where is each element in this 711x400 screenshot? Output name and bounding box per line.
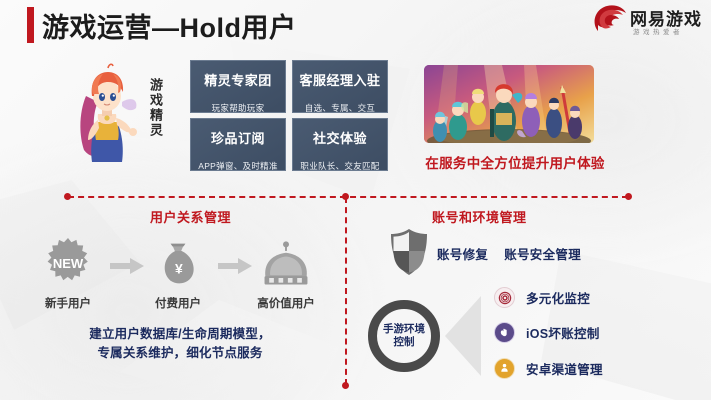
divider-dot-bottom [342, 382, 349, 389]
note-line-1: 建立用户数据库/生命周期模型， [40, 325, 320, 344]
flow-step-high-value-user: 高价值用户 [240, 236, 332, 311]
feature-box-title: 珍品订阅 [191, 128, 285, 147]
netease-games-logo: 网易游戏 游戏热爱者 [593, 2, 705, 42]
env-item-monitoring[interactable]: 多元化监控 [494, 287, 590, 308]
divider-dot-top [342, 193, 349, 200]
hand-gesture-icon [494, 322, 515, 343]
ring-label: 手游环境 控制 [383, 323, 425, 349]
new-badge-icon: NEW [22, 236, 114, 292]
divider-dot-left [64, 193, 71, 200]
game-characters-artwork [424, 65, 594, 143]
slide-header: 游戏运营—Hold用户 网易游戏 游戏热爱者 [0, 0, 711, 48]
money-bag-icon: ¥ [132, 236, 224, 292]
feature-box-subtitle: 职业队长、交友匹配 [293, 160, 387, 172]
left-panel-note: 建立用户数据库/生命周期模型， 专属关系维护，细化节点服务 [40, 325, 320, 364]
ring-label-line-1: 手游环境 [383, 323, 425, 336]
shield-label-security: 账号安全管理 [504, 248, 581, 262]
flow-step-paying-user: ¥ 付费用户 [132, 236, 224, 311]
feature-box-subtitle: 自选、专属、交互 [293, 102, 387, 114]
ring-label-line-2: 控制 [383, 336, 425, 349]
env-item-android-channel[interactable]: 安卓渠道管理 [494, 358, 603, 379]
env-item-label: iOS坏账控制 [526, 323, 600, 342]
mascot-label: 游戏精灵 [146, 78, 165, 138]
flow-step-label: 高价值用户 [240, 295, 332, 311]
feature-box-cs-manager[interactable]: 客服经理入驻 自选、专属、交互 [292, 60, 388, 113]
new-badge-text: NEW [53, 256, 84, 271]
page-title: 游戏运营—Hold用户 [42, 6, 297, 45]
flow-step-label: 新手用户 [22, 295, 114, 311]
logo-tagline: 游戏热爱者 [633, 26, 683, 36]
env-item-ios-bad-debt[interactable]: iOS坏账控制 [494, 322, 600, 343]
shield-icon [389, 228, 429, 276]
feature-box-social-experience[interactable]: 社交体验 职业队长、交友匹配 [292, 118, 388, 171]
note-line-2: 专属关系维护，细化节点服务 [40, 344, 320, 363]
feature-box-subtitle: APP弹窗、及时精准 [191, 160, 285, 172]
chevron-left-icon [443, 296, 483, 376]
crown-icon [240, 236, 332, 292]
target-monitor-icon [494, 287, 515, 308]
feature-box-premium-subscription[interactable]: 珍品订阅 APP弹窗、及时精准 [190, 118, 286, 171]
flow-arrow-icon [110, 258, 144, 274]
feature-box-expert-team[interactable]: 精灵专家团 玩家帮助玩家 [190, 60, 286, 113]
title-accent-bar [27, 7, 34, 43]
flow-arrow-icon [218, 258, 252, 274]
person-info-icon [494, 358, 515, 379]
hero-caption: 在服务中全方位提升用户体验 [415, 152, 615, 172]
slide-canvas: 游戏运营—Hold用户 网易游戏 游戏热爱者 [0, 0, 711, 400]
right-section-title: 账号和环境管理 [432, 207, 527, 226]
env-item-label: 多元化监控 [526, 288, 590, 307]
left-section-title: 用户关系管理 [150, 207, 231, 226]
feature-box-title: 精灵专家团 [191, 70, 285, 89]
flow-step-label: 付费用户 [132, 295, 224, 311]
mobile-game-environment-control-ring: 手游环境 控制 [368, 300, 440, 372]
feature-box-title: 客服经理入驻 [293, 70, 387, 89]
money-bag-symbol: ¥ [175, 260, 183, 276]
feature-box-title: 社交体验 [293, 128, 387, 147]
divider-vertical [345, 197, 347, 385]
shield-label-group: 账号修复账号安全管理 [437, 244, 581, 263]
divider-dot-right [625, 193, 632, 200]
shield-label-repair: 账号修复 [437, 248, 488, 262]
feature-box-subtitle: 玩家帮助玩家 [191, 102, 285, 114]
netease-flame-icon [593, 4, 627, 36]
game-fairy-character [68, 62, 144, 170]
env-item-label: 安卓渠道管理 [526, 359, 603, 378]
flow-step-new-user: NEW 新手用户 [22, 236, 114, 311]
